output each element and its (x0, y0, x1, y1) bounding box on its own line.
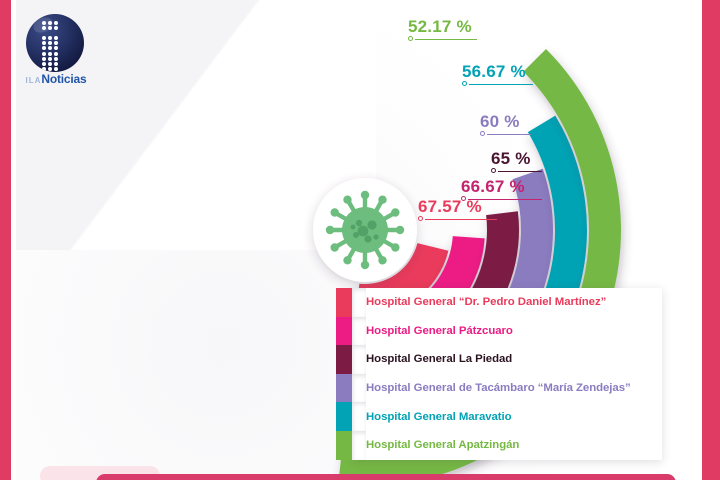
callout-rule (425, 219, 497, 220)
legend-color-chip (336, 317, 352, 346)
legend-item-patzcuaro[interactable]: Hospital General Pátzcuaro (352, 317, 662, 346)
callout-52: 52.17 % (408, 18, 477, 40)
callout-value: 65 % (491, 150, 542, 168)
legend-color-chip (336, 402, 352, 431)
callout-rule (415, 39, 477, 40)
callout-value: 56.67 % (462, 63, 533, 81)
legend-tick (352, 374, 366, 403)
legend-item-maravatio[interactable]: Hospital General Maravatio (352, 402, 662, 431)
legend-item-label: Hospital General Apatzingán (366, 439, 519, 451)
callout-rule (498, 171, 542, 172)
legend-item-tacambaro[interactable]: Hospital General de Tacámbaro “María Zen… (352, 374, 662, 403)
callout-6757: 67.57 % (418, 198, 497, 220)
callout-value: 67.57 % (418, 198, 497, 216)
legend-color-chip (336, 288, 352, 317)
legend-item-label: Hospital General La Piedad (366, 353, 512, 365)
legend-item-label: Hospital General de Tacámbaro “María Zen… (366, 382, 631, 394)
callout-5667: 56.67 % (462, 63, 533, 85)
chart-legend: Hospital General “Dr. Pedro Daniel Martí… (352, 288, 662, 460)
legend-item-pedro-daniel-martinez[interactable]: Hospital General “Dr. Pedro Daniel Martí… (352, 288, 662, 317)
callout-value: 66.67 % (461, 178, 542, 196)
frame-gap-right (697, 0, 702, 480)
frame-border-right (702, 0, 720, 480)
frame-border-left (0, 0, 11, 480)
legend-tick (352, 345, 366, 374)
callout-value: 52.17 % (408, 18, 477, 36)
legend-item-la-piedad[interactable]: Hospital General La Piedad (352, 345, 662, 374)
legend-tick (352, 431, 366, 460)
callout-65: 65 % (491, 150, 542, 172)
legend-item-label: Hospital General Pátzcuaro (366, 325, 513, 337)
callout-60: 60 % (480, 113, 531, 135)
legend-item-label: Hospital General Maravatio (366, 411, 512, 423)
bottom-accent-bar (96, 474, 676, 480)
frame-gap-left (11, 0, 16, 480)
legend-tick (352, 317, 366, 346)
legend-color-chip (336, 431, 352, 460)
legend-tick (352, 402, 366, 431)
legend-color-chip (336, 374, 352, 403)
legend-tick (352, 288, 366, 317)
callout-rule (487, 134, 531, 135)
legend-item-apatzingan[interactable]: Hospital General Apatzingán (352, 431, 662, 460)
legend-item-label: Hospital General “Dr. Pedro Daniel Martí… (366, 296, 606, 308)
slide-canvas: ILANoticias 52.17 % 56.67 % (0, 0, 720, 480)
callout-rule (469, 84, 533, 85)
callout-value: 60 % (480, 113, 531, 131)
legend-color-chip (336, 345, 352, 374)
